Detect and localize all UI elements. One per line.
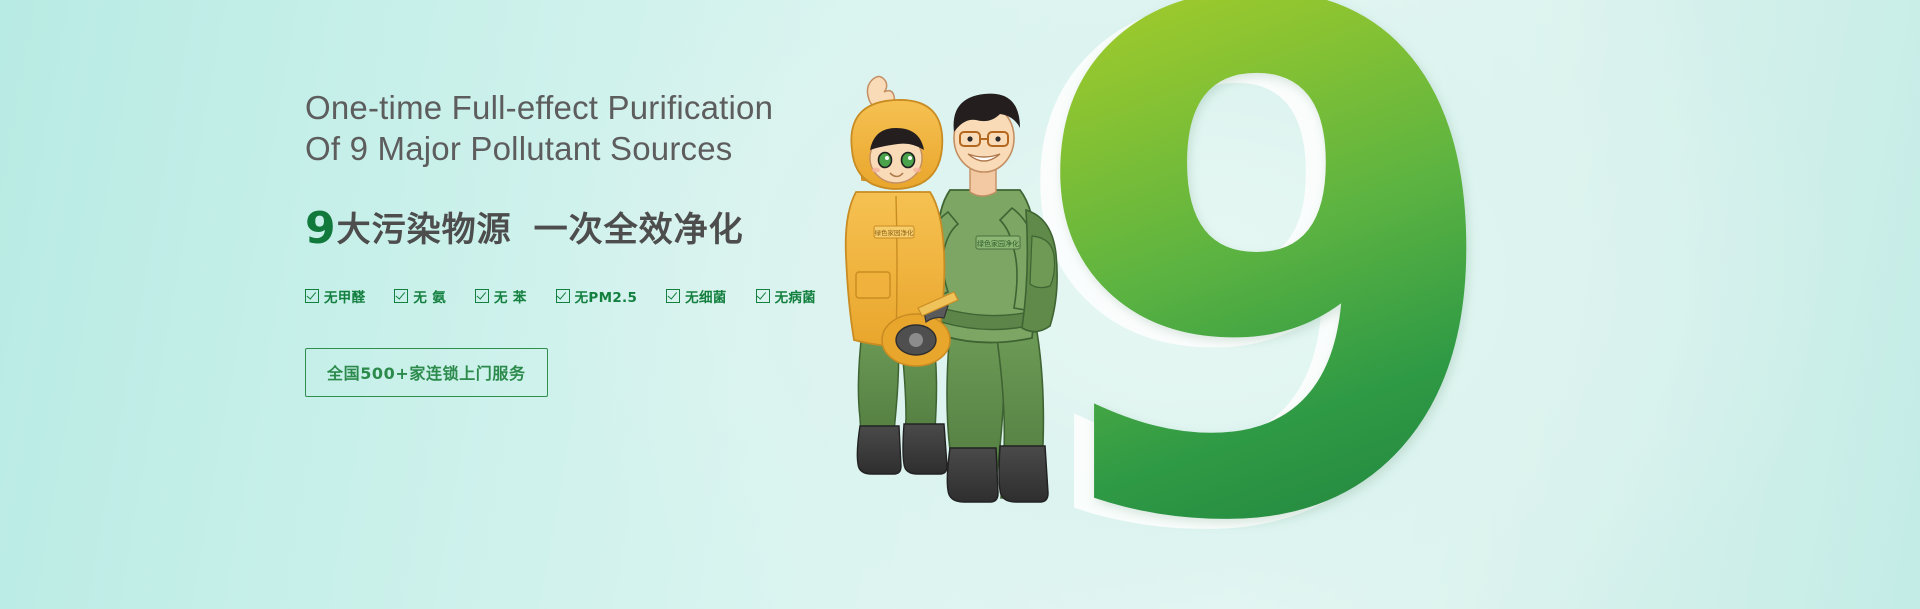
feature-item-formaldehyde: 无甲醛 <box>305 286 365 306</box>
checkbox-check-icon <box>475 289 489 303</box>
feature-item-pathogens: 无病菌 <box>756 286 816 306</box>
banner-copy: One-time Full-effect Purification Of 9 M… <box>305 88 945 397</box>
chinese-heading-part-2: 一次全效净化 <box>534 210 744 250</box>
checkbox-check-icon <box>666 289 680 303</box>
feature-label: 无病菌 <box>775 286 816 306</box>
checkbox-check-icon <box>756 289 770 303</box>
chinese-heading-part-1: 大污染物源 <box>337 210 512 250</box>
cta-button[interactable]: 全国500+家连锁上门服务 <box>305 348 548 397</box>
feature-label: 无 氨 <box>413 286 446 306</box>
feature-label: 无PM2.5 <box>575 286 638 306</box>
feature-item-benzene: 无 苯 <box>475 286 527 306</box>
feature-label: 无甲醛 <box>324 286 365 306</box>
checkbox-check-icon <box>394 289 408 303</box>
checkbox-check-icon <box>305 289 319 303</box>
chinese-heading-number: 9 <box>305 203 337 254</box>
chinese-heading: 9大污染物源一次全效净化 <box>305 202 945 254</box>
feature-label: 无 苯 <box>494 286 527 306</box>
english-heading-line-2: Of 9 Major Pollutant Sources <box>305 129 945 169</box>
checkbox-check-icon <box>556 289 570 303</box>
promo-banner: 9 9 <box>0 0 1920 609</box>
feature-item-ammonia: 无 氨 <box>394 286 446 306</box>
svg-text:绿色家园净化: 绿色家园净化 <box>977 239 1019 248</box>
feature-list: 无甲醛 无 氨 无 苯 无PM2.5 无细菌 无病菌 <box>305 286 945 306</box>
feature-label: 无细菌 <box>685 286 726 306</box>
feature-item-bacteria: 无细菌 <box>666 286 726 306</box>
english-heading-line-1: One-time Full-effect Purification <box>305 88 945 128</box>
feature-item-pm25: 无PM2.5 <box>556 286 638 306</box>
